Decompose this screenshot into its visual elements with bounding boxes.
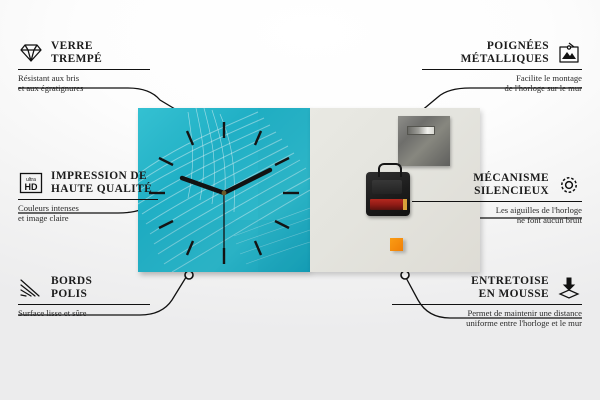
feature-desc-line1: Couleurs intenses bbox=[18, 203, 178, 213]
diamond-icon bbox=[18, 42, 44, 64]
feature-title-line1: VERRE bbox=[51, 40, 102, 53]
feature-impression-haute-qualite[interactable]: ultra HD IMPRESSION DE HAUTE QUALITÉ Cou… bbox=[18, 170, 178, 223]
battery bbox=[370, 199, 403, 210]
hanger-slot bbox=[407, 126, 435, 135]
hour-hand bbox=[182, 178, 224, 193]
divider bbox=[422, 69, 582, 70]
clock-center-cap bbox=[222, 191, 227, 196]
feature-title-line2: POLIS bbox=[51, 288, 92, 301]
feature-desc-line2: et image claire bbox=[18, 213, 178, 223]
callout-dot-bords-polis bbox=[185, 271, 193, 279]
polished-edges-icon bbox=[18, 277, 44, 299]
divider bbox=[392, 304, 582, 305]
feature-title-line1: BORDS bbox=[51, 275, 92, 288]
minute-hand bbox=[224, 170, 270, 193]
divider bbox=[18, 304, 150, 305]
feature-entretoise-en-mousse[interactable]: ENTRETOISE EN MOUSSE Permet de maintenir… bbox=[392, 275, 582, 328]
feature-desc-line2: de l'horloge sur le mur bbox=[422, 83, 582, 93]
infographic-canvas: VERRE TREMPÉ Résistant aux bris et aux é… bbox=[0, 0, 600, 400]
foam-spacer-icon bbox=[556, 277, 582, 299]
feature-title-line1: IMPRESSION DE bbox=[51, 170, 152, 183]
feature-desc-line1: Surface lisse et sûre bbox=[18, 308, 168, 318]
feature-title-line1: POIGNÉES bbox=[461, 40, 549, 53]
feature-bords-polis[interactable]: BORDS POLIS Surface lisse et sûre bbox=[18, 275, 168, 318]
divider bbox=[18, 69, 150, 70]
feature-title-line1: ENTRETOISE bbox=[471, 275, 549, 288]
feature-desc-line2: uniforme entre l'horloge et le mur bbox=[392, 318, 582, 328]
divider bbox=[412, 201, 582, 202]
feature-verre-trempe[interactable]: VERRE TREMPÉ Résistant aux bris et aux é… bbox=[18, 40, 168, 93]
foam-spacer[interactable] bbox=[390, 238, 403, 251]
metal-hanger-plate[interactable] bbox=[398, 116, 450, 166]
divider bbox=[18, 199, 158, 200]
battery-plus-terminal bbox=[403, 199, 407, 210]
feature-title-line2: SILENCIEUX bbox=[473, 185, 549, 198]
feature-desc-line1: Permet de maintenir une distance bbox=[392, 308, 582, 318]
feature-desc-line1: Facilite le montage bbox=[422, 73, 582, 83]
feature-desc-line2: et aux égratignures bbox=[18, 83, 168, 93]
feature-title-line2: EN MOUSSE bbox=[471, 288, 549, 301]
feature-poignees-metalliques[interactable]: POIGNÉES MÉTALLIQUES Facilite le montage… bbox=[422, 40, 582, 93]
feature-title-line2: MÉTALLIQUES bbox=[461, 53, 549, 66]
gear-icon bbox=[556, 174, 582, 196]
feature-desc-line1: Résistant aux bris bbox=[18, 73, 168, 83]
feature-desc-line1: Les aiguilles de l'horloge bbox=[412, 205, 582, 215]
svg-text:HD: HD bbox=[25, 182, 38, 192]
mechanism-hanging-loop bbox=[378, 163, 402, 177]
picture-hanger-icon bbox=[556, 42, 582, 64]
feature-mecanisme-silencieux[interactable]: MÉCANISME SILENCIEUX Les aiguilles de l'… bbox=[412, 172, 582, 225]
feature-title-line1: MÉCANISME bbox=[473, 172, 549, 185]
feature-desc-line2: ne font aucun bruit bbox=[412, 215, 582, 225]
ultra-hd-icon: ultra HD bbox=[18, 172, 44, 194]
clock-mechanism[interactable] bbox=[366, 172, 410, 216]
mechanism-housing-detail bbox=[372, 180, 402, 194]
feature-title-line2: HAUTE QUALITÉ bbox=[51, 183, 152, 196]
feature-title-line2: TREMPÉ bbox=[51, 53, 102, 66]
